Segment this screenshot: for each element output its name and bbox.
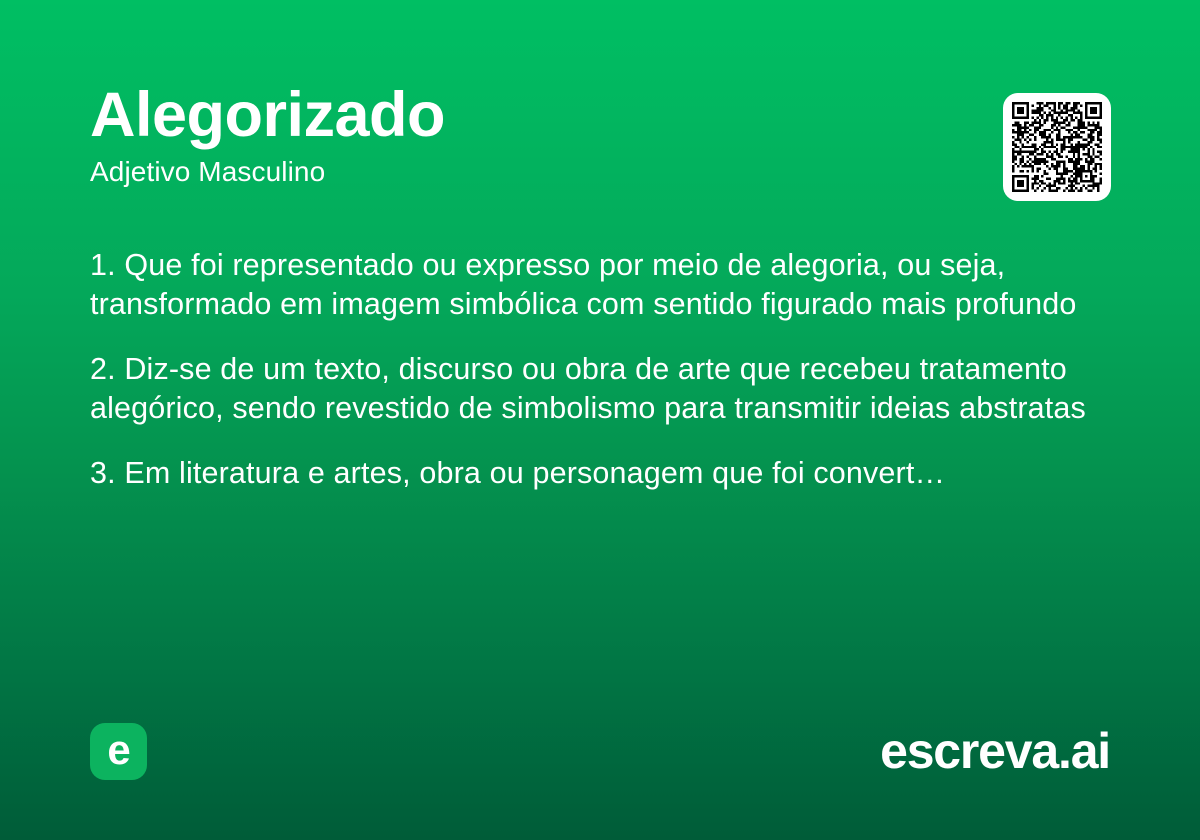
qr-code-card[interactable] xyxy=(1003,93,1111,201)
definition-card: Alegorizado Adjetivo Masculino 1. Que fo… xyxy=(0,0,1200,840)
definition-item: 1. Que foi representado ou expresso por … xyxy=(90,246,1090,324)
card-header: Alegorizado Adjetivo Masculino xyxy=(90,84,1110,188)
page-title: Alegorizado xyxy=(90,84,1110,147)
definition-list: 1. Que foi representado ou expresso por … xyxy=(90,246,1090,493)
definition-item: 3. Em literatura e artes, obra ou person… xyxy=(90,454,1090,493)
brand-logo-badge: e xyxy=(90,723,147,780)
definition-item: 2. Diz-se de um texto, discurso ou obra … xyxy=(90,350,1090,428)
brand-wordmark: escreva.ai xyxy=(880,722,1110,780)
brand-logo-letter: e xyxy=(107,729,129,771)
word-class-label: Adjetivo Masculino xyxy=(90,157,1110,188)
qr-code-icon xyxy=(1012,102,1102,192)
